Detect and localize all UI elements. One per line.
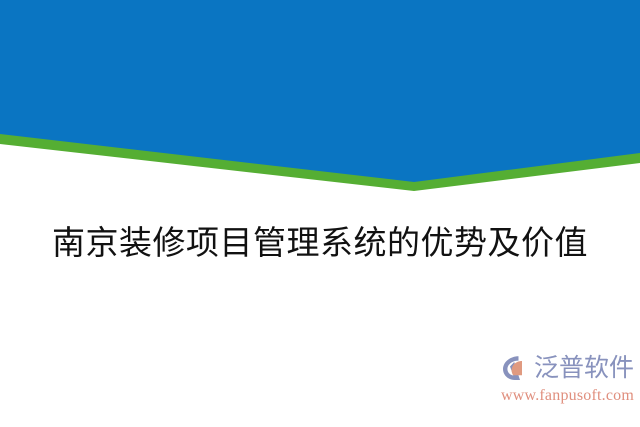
logo-wordmark: 泛普软件 [534, 353, 634, 383]
logo-url: www.fanpusoft.com [488, 386, 634, 405]
banner-green-edge [0, 0, 640, 191]
title-block: 南京装修项目管理系统的优势及价值 [0, 222, 640, 266]
logo-row: 泛普软件 [488, 351, 634, 385]
banner-blue-body [0, 0, 640, 182]
fanpu-logo-icon [500, 353, 532, 383]
page-title: 南京装修项目管理系统的优势及价值 [52, 222, 588, 266]
chevron-banner [0, 0, 640, 200]
brand-logo-lockup: 泛普软件 www.fanpusoft.com [488, 351, 634, 413]
slide-canvas: 南京装修项目管理系统的优势及价值 泛普软件 www.fanpusoft.com [0, 0, 640, 427]
